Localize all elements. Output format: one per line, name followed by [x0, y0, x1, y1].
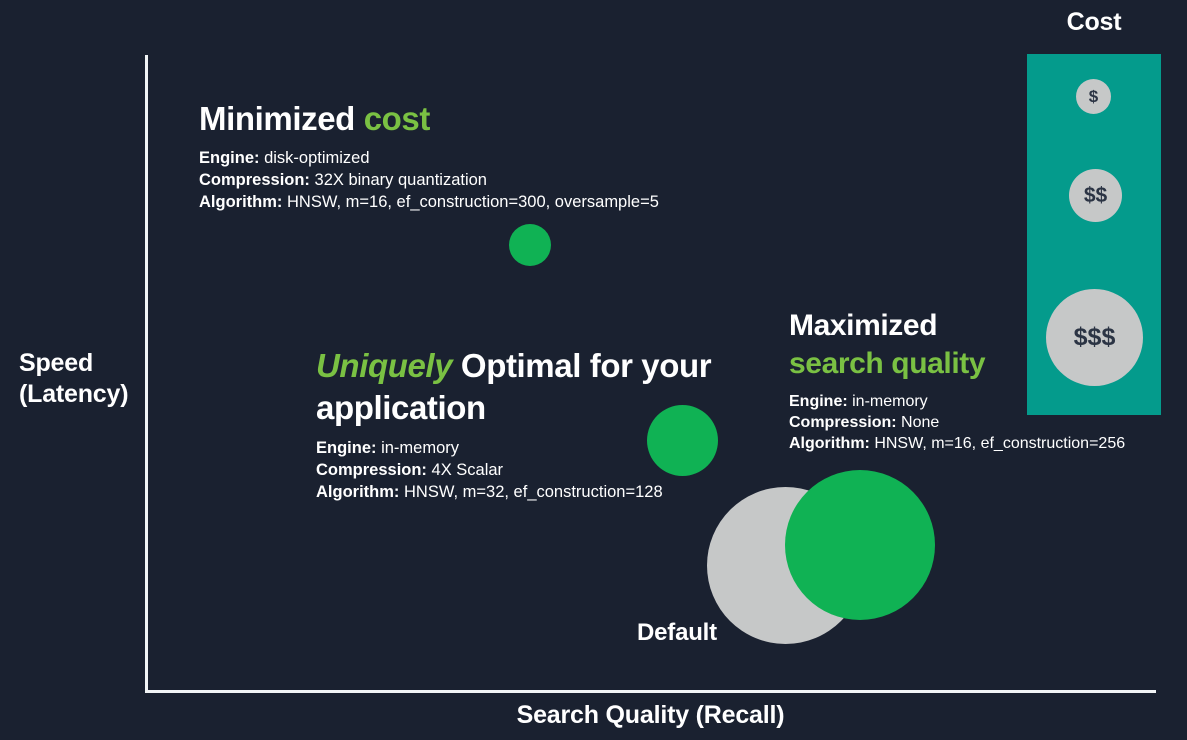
x-axis-line	[145, 690, 1156, 693]
bubble-uniquely-optimal[interactable]	[647, 405, 718, 476]
spec-value-engine: disk-optimized	[260, 149, 370, 167]
y-axis-label-line1: Speed	[19, 349, 93, 377]
y-axis-label: Speed (Latency)	[19, 348, 139, 409]
spec-key-compression: Compression:	[199, 171, 310, 189]
cost-tier-coin-medium: $$	[1069, 169, 1122, 222]
spec-key-compression: Compression:	[789, 414, 897, 431]
spec-value-algorithm: HNSW, m=16, ef_construction=300, oversam…	[282, 193, 659, 211]
annotation-minimized-cost: Minimized cost Engine: disk-optimized Co…	[199, 100, 659, 214]
spec-key-engine: Engine:	[789, 393, 848, 410]
spec-row-compression: Compression: 32X binary quantization	[199, 170, 659, 192]
minimized-cost-specs: Engine: disk-optimized Compression: 32X …	[199, 148, 659, 214]
bubble-maximized-search-quality[interactable]	[785, 470, 935, 620]
spec-value-algorithm: HNSW, m=32, ef_construction=128	[399, 483, 662, 501]
spec-row-engine: Engine: disk-optimized	[199, 148, 659, 170]
spec-key-algorithm: Algorithm:	[316, 483, 399, 501]
spec-row-algorithm: Algorithm: HNSW, m=32, ef_construction=1…	[316, 482, 716, 504]
minimized-cost-title: Minimized cost	[199, 100, 659, 139]
cost-tier-coin-small: $	[1076, 79, 1111, 114]
spec-value-compression: 4X Scalar	[427, 461, 503, 479]
minimized-cost-title-plain: Minimized	[199, 100, 364, 137]
spec-value-engine: in-memory	[377, 439, 460, 457]
spec-value-compression: 32X binary quantization	[310, 171, 487, 189]
spec-value-algorithm: HNSW, m=16, ef_construction=256	[870, 435, 1125, 452]
cost-panel-title: Cost	[1027, 8, 1161, 37]
spec-row-algorithm: Algorithm: HNSW, m=16, ef_construction=3…	[199, 192, 659, 214]
uniquely-optimal-title-accent: Uniquely	[316, 347, 452, 384]
y-axis-line	[145, 55, 148, 693]
minimized-cost-title-accent: cost	[364, 100, 430, 137]
spec-key-engine: Engine:	[199, 149, 260, 167]
cost-tier-coin-large: $$$	[1046, 289, 1143, 386]
x-axis-label: Search Quality (Recall)	[145, 700, 1156, 731]
spec-row-compression: Compression: None	[789, 412, 1125, 433]
uniquely-optimal-title-plain: Optimal for your	[452, 347, 711, 384]
spec-row-algorithm: Algorithm: HNSW, m=16, ef_construction=2…	[789, 433, 1125, 454]
spec-value-compression: None	[897, 414, 940, 431]
bubble-minimized-cost[interactable]	[509, 224, 551, 266]
spec-key-compression: Compression:	[316, 461, 427, 479]
spec-value-engine: in-memory	[848, 393, 928, 410]
spec-key-algorithm: Algorithm:	[789, 435, 870, 452]
maximized-quality-title-plain: Maximized	[789, 309, 937, 342]
y-axis-label-line2: (Latency)	[19, 380, 128, 408]
spec-key-algorithm: Algorithm:	[199, 193, 282, 211]
chart-canvas: Speed (Latency) Search Quality (Recall) …	[0, 0, 1187, 740]
bubble-default-label: Default	[637, 619, 717, 647]
spec-key-engine: Engine:	[316, 439, 377, 457]
